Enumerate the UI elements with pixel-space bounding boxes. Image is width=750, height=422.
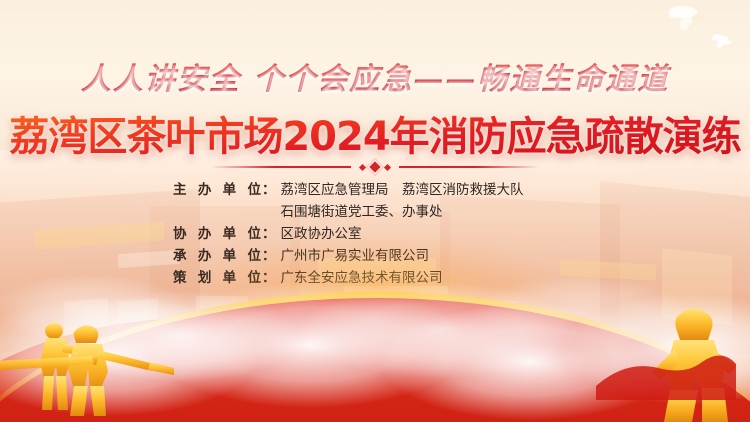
organizer-label: 主办单位 bbox=[173, 178, 261, 198]
poster-title: 荔湾区茶叶市场2024年消防应急疏散演练 bbox=[0, 104, 750, 162]
organizer-value: 荔湾区应急管理局 荔湾区消防救援大队 bbox=[281, 178, 524, 198]
organizer-colon: ： bbox=[261, 178, 281, 198]
divider bbox=[0, 161, 750, 173]
organizer-value: 石围塘街道党工委、办事处 bbox=[281, 200, 443, 220]
fire-drill-poster: 人人讲安全 个个会应急——畅通生命通道 荔湾区茶叶市场2024年消防应急疏散演练… bbox=[0, 0, 750, 422]
divider-line-right bbox=[399, 166, 539, 168]
organizer-row: 主办单位 ： 荔湾区应急管理局 荔湾区消防救援大队 bbox=[173, 178, 577, 198]
diamond-ornament-icon bbox=[360, 161, 390, 173]
flame-accent bbox=[596, 352, 736, 400]
divider-line-left bbox=[211, 166, 351, 168]
organizer-row-continuation: 主办单位 ： 石围塘街道党工委、办事处 bbox=[173, 200, 577, 220]
water-jet-icon bbox=[0, 352, 94, 376]
poster-slogan: 人人讲安全 个个会应急——畅通生命通道 bbox=[0, 54, 750, 98]
